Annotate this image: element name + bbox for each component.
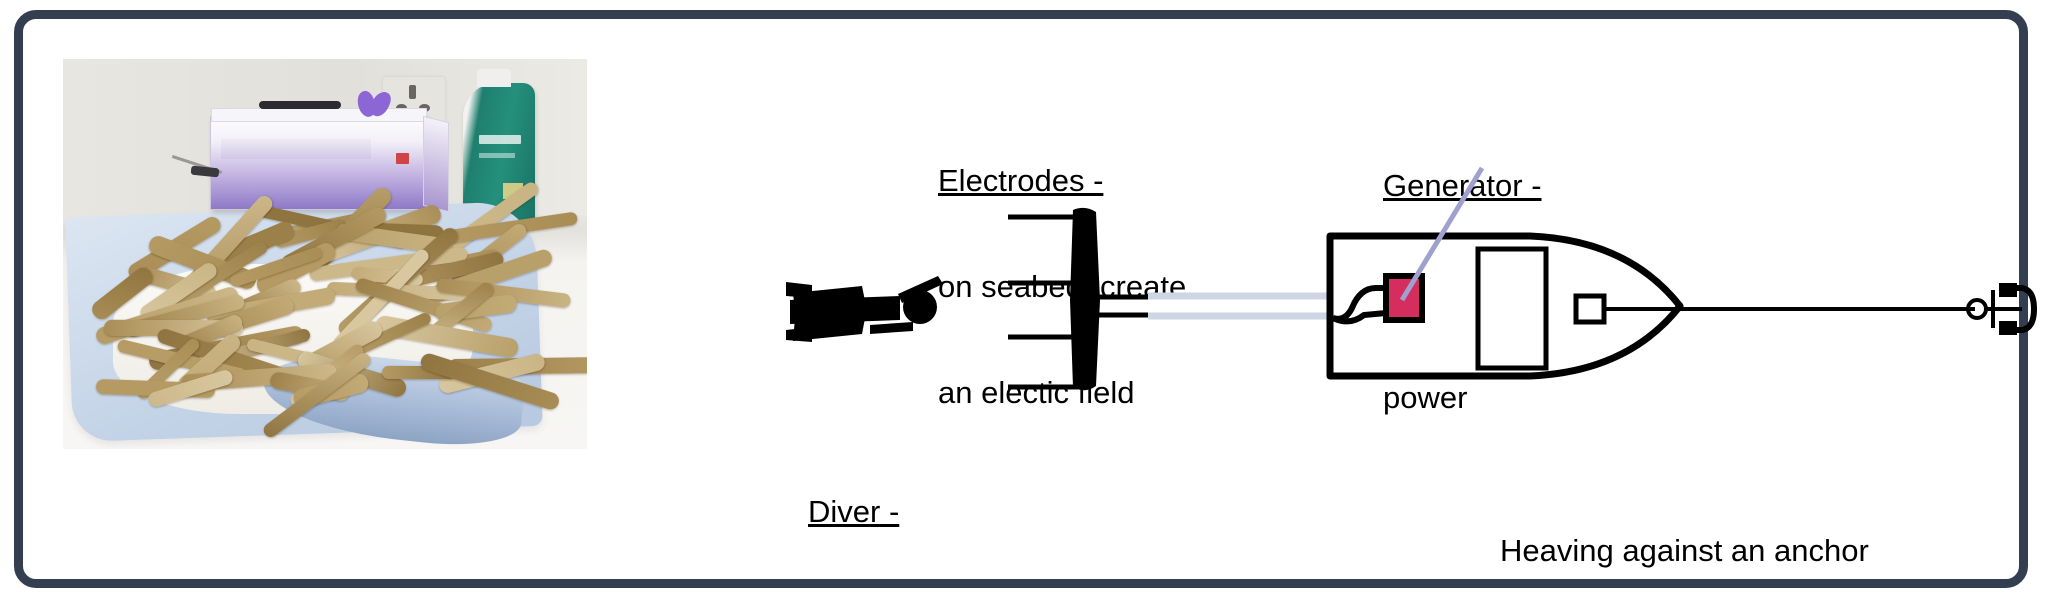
generator-label-heading: Generator -	[1383, 168, 1643, 203]
anchor-caption-line1: Heaving against an anchor	[1500, 533, 1898, 568]
slide-border-frame: Electrodes - on seabed, create an electi…	[14, 10, 2028, 588]
electrodes-label-heading: Electrodes -	[938, 163, 1186, 198]
electrodes-label-line1: on seabed, create	[938, 269, 1186, 304]
razor-clams-photograph	[63, 59, 587, 449]
diver-label: Diver - Collects razor clams emerging fr…	[808, 423, 1172, 606]
generator-label: Generator - Providing electrical power	[1383, 97, 1643, 486]
generator-label-line1: Providing electrical	[1383, 274, 1643, 309]
electrodes-label-line2: an electic field	[938, 375, 1186, 410]
generator-label-line2: power	[1383, 380, 1643, 415]
slide-canvas: Electrodes - on seabed, create an electi…	[0, 0, 2056, 606]
diver-label-line1: Collects razor clams	[808, 600, 1172, 606]
diver-label-heading: Diver -	[808, 494, 1172, 529]
anchor-caption: Heaving against an anchor used to tow ge…	[1500, 462, 1898, 606]
razor-clam-pile	[63, 59, 587, 449]
